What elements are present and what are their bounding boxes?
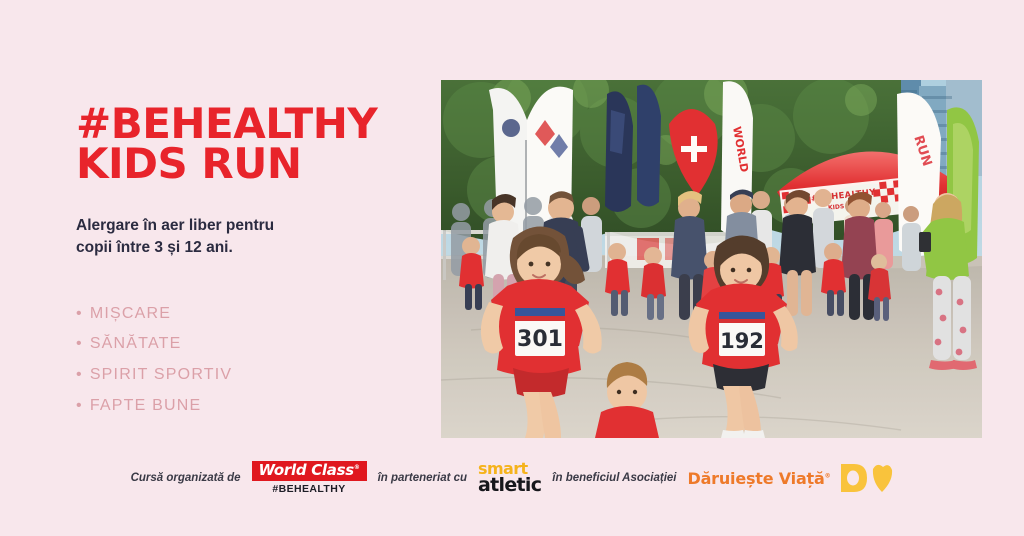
headline-line-2: KIDS RUN <box>76 144 416 184</box>
list-item: •SĂNĂTATE <box>76 329 416 360</box>
page-title: #BEHEALTHY KIDS RUN <box>76 104 416 185</box>
sponsor-footer: Cursă organizată de World Class® #BEHEAL… <box>0 452 1024 504</box>
daruieste-viata-logo[interactable]: Dăruiește Viață® <box>687 461 893 495</box>
benefits-list: •MIȘCARE •SĂNĂTATE •SPIRIT SPORTIV •FAPT… <box>76 299 416 422</box>
list-item: •FAPTE BUNE <box>76 391 416 422</box>
benefit-label: în beneficiul Asociației <box>552 472 676 484</box>
subtitle: Alergare în aer liber pentru copii între… <box>76 215 416 259</box>
subtitle-line-2: copii între 3 și 12 ani. <box>76 237 416 259</box>
smart-atletic-line-2: atletic <box>478 477 541 495</box>
poster-canvas: #BEHEALTHY KIDS RUN Alergare în aer libe… <box>0 0 1024 536</box>
bullet-label: SĂNĂTATE <box>90 335 182 352</box>
bullet-label: FAPTE BUNE <box>90 397 202 414</box>
bullet-icon: • <box>76 335 83 352</box>
worldclass-registered-mark: ® <box>354 464 360 471</box>
bullet-icon: • <box>76 366 83 383</box>
daruieste-viata-wordmark: Dăruiește Viață® <box>687 469 830 488</box>
worldclass-logo[interactable]: World Class® #BEHEALTHY <box>252 461 367 495</box>
left-text-column: #BEHEALTHY KIDS RUN Alergare în aer libe… <box>76 104 416 422</box>
race-photo-illustration: #BEHEALTHY KIDS RUN <box>441 80 982 438</box>
d-heart-icon <box>837 461 893 495</box>
bullet-label: SPIRIT SPORTIV <box>90 366 232 383</box>
smart-atletic-logo[interactable]: smart atletic <box>478 462 541 495</box>
worldclass-tagline: #BEHEALTHY <box>272 483 345 495</box>
worldclass-name: World Class <box>259 461 354 479</box>
bullet-icon: • <box>76 397 83 414</box>
list-item: •SPIRIT SPORTIV <box>76 360 416 391</box>
daruieste-viata-name: Dăruiește Viață <box>687 469 824 488</box>
worldclass-wordmark: World Class® <box>252 461 367 481</box>
daruieste-viata-registered-mark: ® <box>825 472 831 479</box>
bullet-label: MIȘCARE <box>90 305 171 322</box>
race-photo: #BEHEALTHY KIDS RUN <box>441 80 982 438</box>
bullet-icon: • <box>76 305 83 322</box>
subtitle-line-1: Alergare în aer liber pentru <box>76 215 416 237</box>
list-item: •MIȘCARE <box>76 299 416 330</box>
organized-by-label: Cursă organizată de <box>131 472 241 484</box>
partnership-label: în parteneriat cu <box>378 472 467 484</box>
